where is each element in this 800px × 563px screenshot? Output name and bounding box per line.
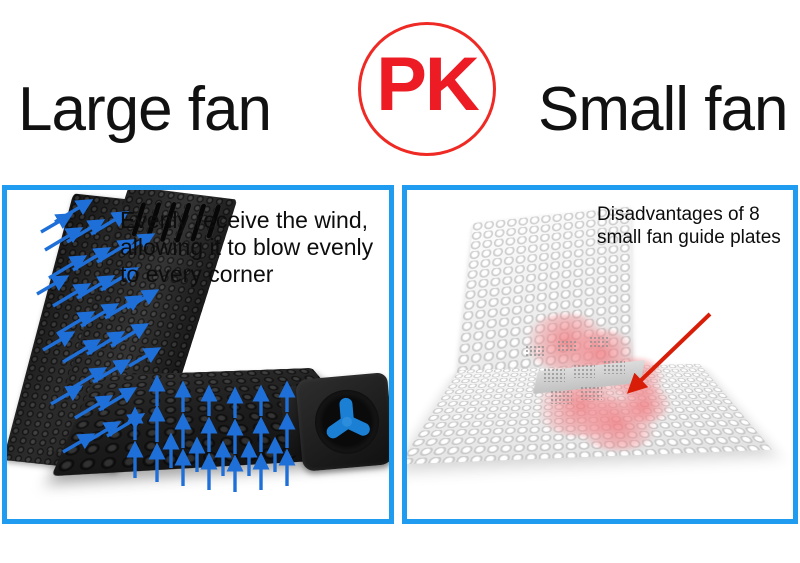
pk-versus-badge: PK — [358, 22, 504, 164]
header-bar: Large fan PK Small fan — [0, 0, 800, 182]
page-title-right: Small fan — [538, 79, 787, 141]
left-panel-caption: Evenly receive the wind, allowing it to … — [120, 207, 373, 288]
large-fan-panel: Evenly receive the wind, allowing it to … — [2, 185, 394, 524]
right-panel-caption: Disadvantages of 8 small fan guide plate… — [597, 203, 781, 249]
small-fan-panel: Disadvantages of 8 small fan guide plate… — [402, 185, 798, 524]
pk-label: PK — [358, 42, 496, 128]
page-title-left: Large fan — [18, 79, 271, 141]
